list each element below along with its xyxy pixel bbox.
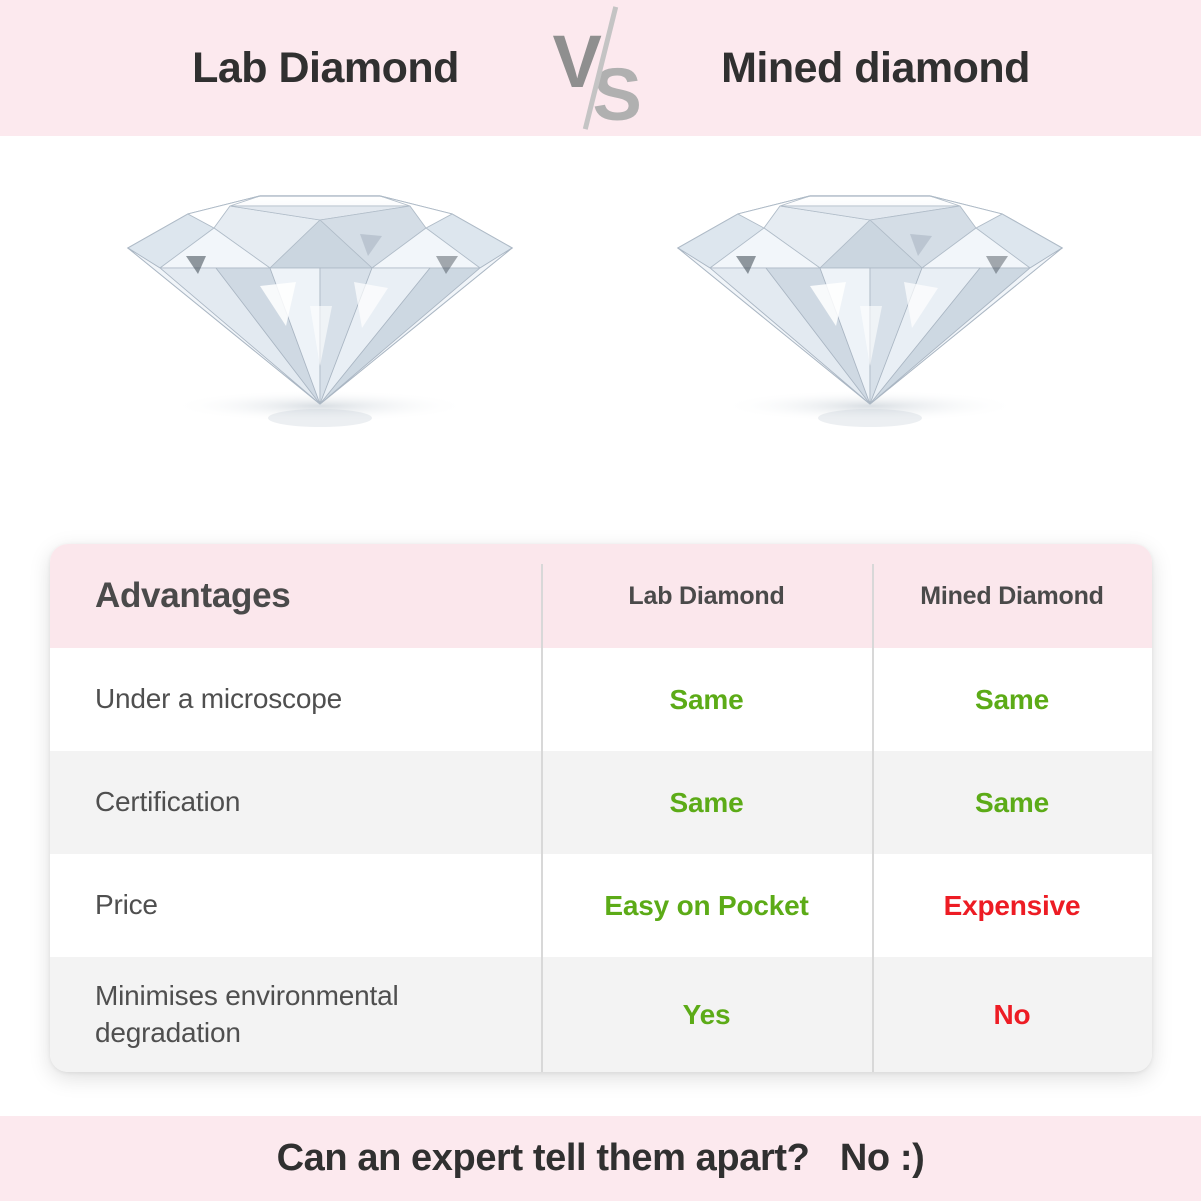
column-divider-2 [872,854,874,957]
header-cell-mined-diamond: Mined Diamond [872,544,1152,648]
column-divider-2 [872,564,874,648]
column-divider-1 [541,854,543,957]
comparison-table-card: Advantages Lab Diamond Mined Diamond Und… [50,544,1152,1072]
row-value-mined: Same [872,751,1152,854]
page-title-mined-diamond: Mined diamond [661,44,1091,93]
row-feature-label: Under a microscope [50,648,541,751]
table-row: Under a microscope Same Same [50,648,1152,751]
lab-diamond-image [110,156,530,456]
header-band: Lab Diamond V S Mined diamond [0,0,1201,136]
page-title-lab-diamond: Lab Diamond [111,44,541,93]
column-divider-2 [872,648,874,751]
row-feature-label: Certification [50,751,541,854]
column-divider-1 [541,751,543,854]
row-feature-label: Minimises environmental degradation [50,957,541,1072]
table-row: Certification Same Same [50,751,1152,854]
table-row: Price Easy on Pocket Expensive [50,854,1152,957]
diamond-icon [110,156,530,456]
column-divider-1 [541,648,543,751]
row-value-lab: Same [541,751,872,854]
row-value-mined: Expensive [872,854,1152,957]
diamond-showcase [0,136,1201,536]
table-header-row: Advantages Lab Diamond Mined Diamond [50,544,1152,648]
mined-diamond-image [660,156,1080,456]
row-value-lab: Same [541,648,872,751]
table-title: Advantages [95,576,290,616]
table-row: Minimises environmental degradation Yes … [50,957,1152,1072]
diamond-icon [660,156,1080,456]
footer-band: Can an expert tell them apart? No :) [0,1116,1201,1201]
row-value-lab: Easy on Pocket [541,854,872,957]
header-cell-feature: Advantages [50,544,541,648]
row-feature-label: Price [50,854,541,957]
column-divider-1 [541,957,543,1072]
row-value-mined: Same [872,648,1152,751]
column-divider-1 [541,564,543,648]
versus-logo: V S [541,3,661,133]
row-value-mined: No [872,957,1152,1072]
row-value-lab: Yes [541,957,872,1072]
footer-question-text: Can an expert tell them apart? No :) [277,1137,925,1180]
column-divider-2 [872,751,874,854]
column-divider-2 [872,957,874,1072]
header-cell-lab-diamond: Lab Diamond [541,544,872,648]
